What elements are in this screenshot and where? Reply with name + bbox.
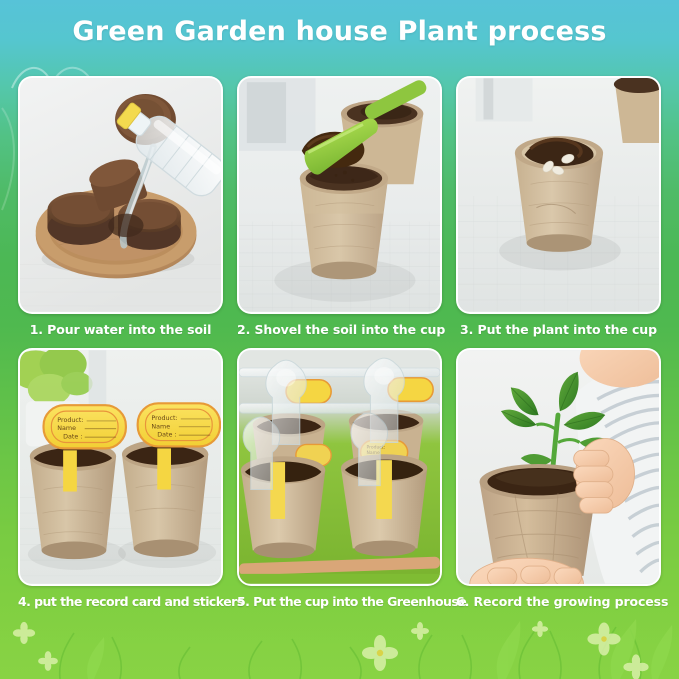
step-caption: 5. Put the cup into the Greenhouse — [237, 594, 442, 609]
step-photo-place-seeds — [456, 76, 661, 314]
step-caption: 1. Pour water into the soil — [18, 322, 223, 337]
svg-text:Date :: Date : — [157, 431, 176, 439]
svg-text:Product:: Product: — [151, 414, 177, 422]
svg-text:Name: Name — [57, 424, 76, 432]
step-card: 3. Put the plant into the cup — [456, 76, 661, 337]
step-card: Product: Name Date : Product: Name — [18, 348, 223, 609]
step-photo-record-growth — [456, 348, 661, 586]
grass-decoration-icon — [0, 609, 679, 679]
step-photo-shovel-soil — [237, 76, 442, 314]
svg-text:Product:: Product: — [57, 416, 83, 424]
step-photo-pour-water — [18, 76, 223, 314]
step-caption: 6. Record the growing process — [456, 594, 661, 609]
poster-canvas: Green Garden house Plant process — [0, 0, 679, 679]
step-photo-greenhouse: Product:NameDate — [237, 348, 442, 586]
step-caption: 3. Put the plant into the cup — [456, 322, 661, 337]
step-caption: 2. Shovel the soil into the cup — [237, 322, 442, 337]
svg-text:Date :: Date : — [63, 433, 82, 441]
step-photo-record-cards: Product: Name Date : Product: Name — [18, 348, 223, 586]
illustration-pour-water — [20, 78, 221, 312]
step-card: Product:NameDate — [237, 348, 442, 609]
steps-grid: 1. Pour water into the soil — [18, 76, 661, 609]
step-caption: 4. put the record card and stickers — [18, 594, 223, 609]
step-card: 1. Pour water into the soil — [18, 76, 223, 337]
step-card: 6. Record the growing process — [456, 348, 661, 609]
illustration-record-cards: Product: Name Date : Product: Name — [20, 350, 221, 584]
svg-text:Name: Name — [151, 422, 170, 430]
illustration-place-seeds — [458, 78, 659, 312]
illustration-shovel-soil — [239, 78, 440, 312]
step-card: 2. Shovel the soil into the cup — [237, 76, 442, 337]
page-title: Green Garden house Plant process — [0, 16, 679, 47]
illustration-greenhouse: Product:NameDate — [239, 350, 440, 584]
illustration-record-growth — [458, 350, 659, 584]
